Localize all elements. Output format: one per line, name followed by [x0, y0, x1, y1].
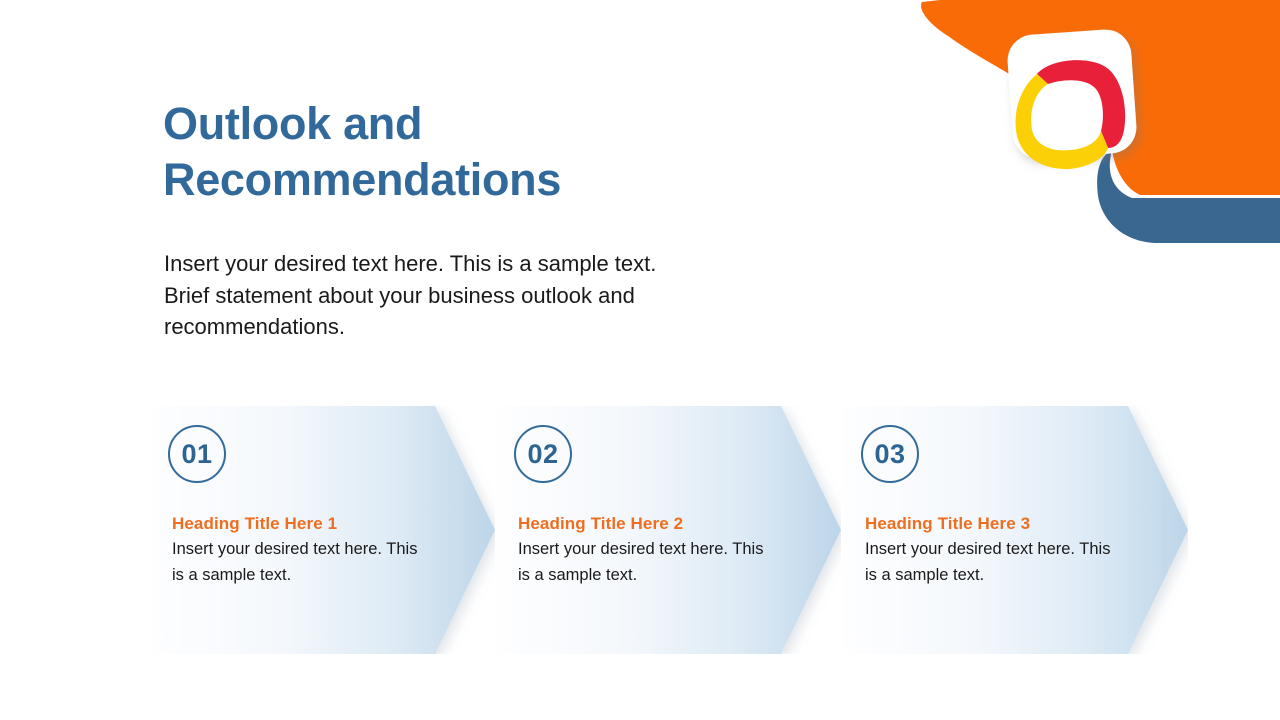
chevron-step-2[interactable]: 02 Heading Title Here 2 Insert your desi… — [496, 406, 841, 654]
step-number-badge-2: 02 — [514, 425, 572, 483]
step-body-3: Insert your desired text here. This is a… — [865, 537, 1120, 588]
chevron-2-content: 02 Heading Title Here 2 Insert your desi… — [514, 425, 792, 588]
chevron-step-1[interactable]: 01 Heading Title Here 1 Insert your desi… — [150, 406, 495, 654]
step-heading-2: Heading Title Here 2 — [518, 514, 792, 534]
logo-red-arc — [1037, 60, 1125, 148]
title-block: Outlook and Recommendations — [163, 96, 723, 208]
slide-canvas: Outlook and Recommendations Insert your … — [0, 0, 1280, 720]
orange-blob-shape — [921, 0, 1280, 195]
blue-diagonal-band — [1097, 150, 1280, 243]
step-heading-3: Heading Title Here 3 — [865, 514, 1139, 534]
chevron-3-content: 03 Heading Title Here 3 Insert your desi… — [861, 425, 1139, 588]
page-title: Outlook and Recommendations — [163, 96, 723, 208]
step-body-2: Insert your desired text here. This is a… — [518, 537, 773, 588]
step-number-badge-3: 03 — [861, 425, 919, 483]
step-number-badge-1: 01 — [168, 425, 226, 483]
intro-paragraph: Insert your desired text here. This is a… — [164, 248, 669, 343]
logo-yellow-arc — [1016, 74, 1108, 169]
step-heading-1: Heading Title Here 1 — [172, 514, 446, 534]
decorative-corner-graphic — [900, 0, 1280, 260]
chevron-step-3[interactable]: 03 Heading Title Here 3 Insert your desi… — [843, 406, 1188, 654]
logo-badge-plate — [1006, 28, 1138, 160]
step-body-1: Insert your desired text here. This is a… — [172, 537, 427, 588]
chevron-step-row: 01 Heading Title Here 1 Insert your desi… — [0, 406, 1280, 656]
chevron-1-content: 01 Heading Title Here 1 Insert your desi… — [168, 425, 446, 588]
